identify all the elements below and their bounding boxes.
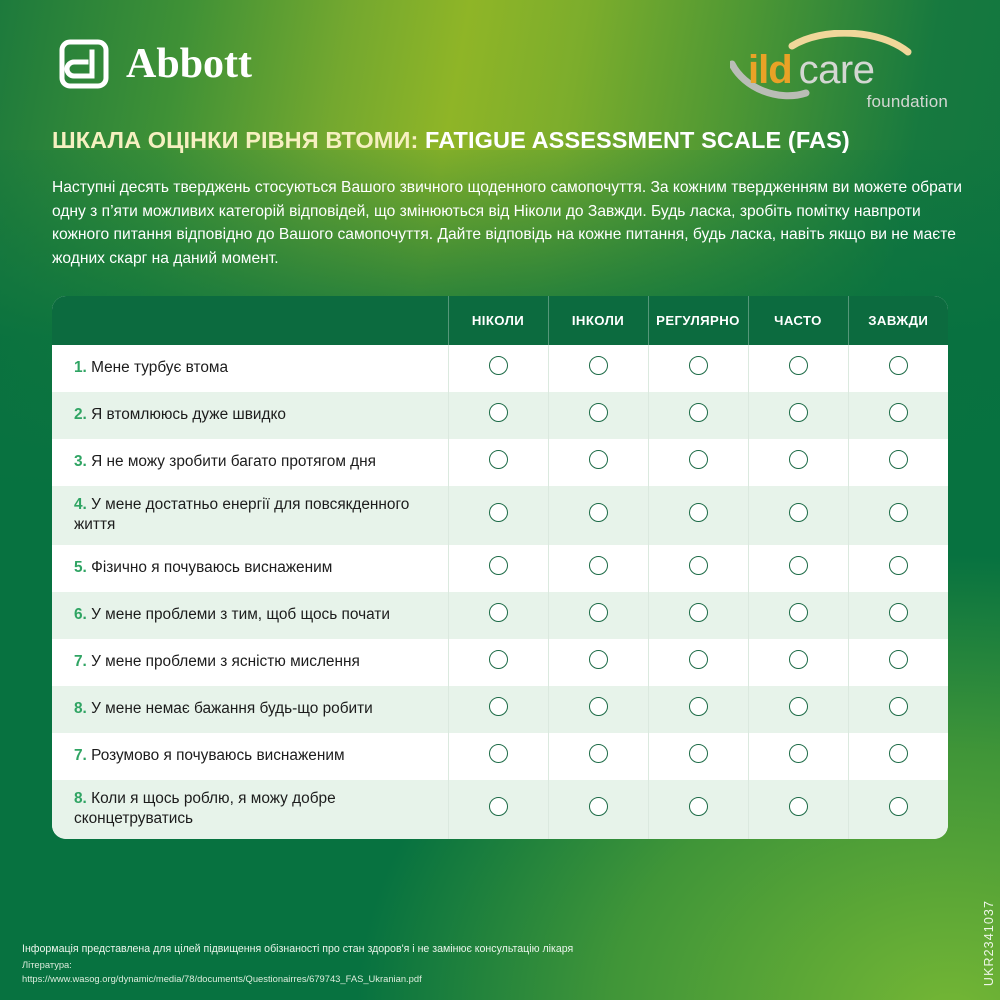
answer-cell[interactable] (448, 780, 548, 839)
answer-cell[interactable] (548, 345, 648, 392)
table-row: 5. Фізично я почуваюсь виснаженим (52, 545, 948, 592)
column-header-question (52, 296, 448, 345)
radio-button-q8-opt2[interactable] (589, 697, 608, 716)
answer-cell[interactable] (748, 345, 848, 392)
radio-button-q6-opt3[interactable] (689, 603, 708, 622)
answer-cell[interactable] (748, 392, 848, 439)
answer-cell[interactable] (848, 486, 948, 545)
column-header-regularly: РЕГУЛЯРНО (648, 296, 748, 345)
answer-cell[interactable] (448, 545, 548, 592)
question-number: 8. (74, 700, 87, 717)
answer-cell[interactable] (648, 733, 748, 780)
page-title: ШКАЛА ОЦІНКИ РІВНЯ ВТОМИ: FATIGUE ASSESS… (0, 118, 1000, 162)
question-text: У мене немає бажання будь-що робити (91, 700, 373, 717)
radio-button-q9-opt4[interactable] (789, 744, 808, 763)
radio-button-q8-opt3[interactable] (689, 697, 708, 716)
answer-cell[interactable] (548, 439, 648, 486)
answer-cell[interactable] (648, 686, 748, 733)
column-header-sometimes: ІНКОЛИ (548, 296, 648, 345)
answer-cell[interactable] (748, 545, 848, 592)
question-cell: 6. У мене проблеми з тим, щоб щось почат… (52, 592, 448, 639)
radio-button-q4-opt5[interactable] (889, 503, 908, 522)
answer-cell[interactable] (448, 345, 548, 392)
radio-button-q2-opt2[interactable] (589, 403, 608, 422)
answer-cell[interactable] (448, 639, 548, 686)
table-row: 1. Мене турбує втома (52, 345, 948, 392)
radio-button-q6-opt2[interactable] (589, 603, 608, 622)
radio-button-q10-opt2[interactable] (589, 797, 608, 816)
radio-button-q6-opt1[interactable] (489, 603, 508, 622)
question-number: 8. (74, 790, 87, 807)
answer-cell[interactable] (748, 439, 848, 486)
question-cell: 7. Розумово я почуваюсь виснаженим (52, 733, 448, 780)
ild-logo-subtitle: foundation (867, 92, 948, 112)
radio-button-q9-opt1[interactable] (489, 744, 508, 763)
radio-button-q10-opt5[interactable] (889, 797, 908, 816)
ild-logo-secondary-text: care (799, 50, 875, 90)
answer-cell[interactable] (648, 545, 748, 592)
radio-button-q3-opt5[interactable] (889, 450, 908, 469)
footer-reference-url[interactable]: https://www.wasog.org/dynamic/media/78/d… (22, 972, 722, 986)
radio-button-q7-opt3[interactable] (689, 650, 708, 669)
page-header: Abbott ild care foundation (0, 0, 1000, 118)
radio-button-q5-opt1[interactable] (489, 556, 508, 575)
question-text: Я втомлююсь дуже швидко (91, 406, 286, 423)
question-number: 6. (74, 606, 87, 623)
question-text: У мене достатньо енергії для повсякденно… (74, 496, 409, 533)
column-header-often: ЧАСТО (748, 296, 848, 345)
question-cell: 7. У мене проблеми з ясністю мислення (52, 639, 448, 686)
answer-cell[interactable] (848, 439, 948, 486)
fas-questionnaire-table: НІКОЛИ ІНКОЛИ РЕГУЛЯРНО ЧАСТО ЗАВЖДИ 1. … (52, 296, 948, 839)
table-row: 8. Коли я щось роблю, я можу добре сконц… (52, 780, 948, 839)
radio-button-q4-opt1[interactable] (489, 503, 508, 522)
answer-cell[interactable] (848, 592, 948, 639)
question-cell: 2. Я втомлююсь дуже швидко (52, 392, 448, 439)
answer-cell[interactable] (648, 639, 748, 686)
question-text: Фізично я почуваюсь виснаженим (91, 559, 332, 576)
table-row: 3. Я не можу зробити багато протягом дня (52, 439, 948, 486)
footer: Інформація представлена для цілей підвищ… (22, 942, 722, 986)
radio-button-q6-opt4[interactable] (789, 603, 808, 622)
radio-button-q2-opt1[interactable] (489, 403, 508, 422)
radio-button-q1-opt4[interactable] (789, 356, 808, 375)
radio-button-q4-opt4[interactable] (789, 503, 808, 522)
answer-cell[interactable] (448, 486, 548, 545)
radio-button-q7-opt4[interactable] (789, 650, 808, 669)
question-text: Мене турбує втома (91, 359, 228, 376)
question-number: 4. (74, 496, 87, 513)
answer-cell[interactable] (548, 592, 648, 639)
radio-button-q1-opt2[interactable] (589, 356, 608, 375)
answer-cell[interactable] (448, 592, 548, 639)
abbott-a-mark-icon (58, 38, 110, 90)
questionnaire-card: НІКОЛИ ІНКОЛИ РЕГУЛЯРНО ЧАСТО ЗАВЖДИ 1. … (52, 296, 948, 839)
radio-button-q10-opt4[interactable] (789, 797, 808, 816)
radio-button-q7-opt2[interactable] (589, 650, 608, 669)
answer-cell[interactable] (648, 592, 748, 639)
answer-cell[interactable] (548, 780, 648, 839)
radio-button-q5-opt4[interactable] (789, 556, 808, 575)
table-row: 7. Розумово я почуваюсь виснаженим (52, 733, 948, 780)
radio-button-q2-opt5[interactable] (889, 403, 908, 422)
question-number: 5. (74, 559, 87, 576)
question-cell: 1. Мене турбує втома (52, 345, 448, 392)
column-header-never: НІКОЛИ (448, 296, 548, 345)
radio-button-q8-opt1[interactable] (489, 697, 508, 716)
question-number: 2. (74, 406, 87, 423)
answer-cell[interactable] (548, 639, 648, 686)
question-cell: 5. Фізично я почуваюсь виснаженим (52, 545, 448, 592)
answer-cell[interactable] (448, 392, 548, 439)
radio-button-q6-opt5[interactable] (889, 603, 908, 622)
abbott-wordmark: Abbott (126, 43, 252, 85)
answer-cell[interactable] (848, 686, 948, 733)
table-row: 7. У мене проблеми з ясністю мислення (52, 639, 948, 686)
footer-disclaimer: Інформація представлена для цілей підвищ… (22, 942, 722, 958)
radio-button-q1-opt5[interactable] (889, 356, 908, 375)
answer-cell[interactable] (648, 392, 748, 439)
table-row: 4. У мене достатньо енергії для повсякде… (52, 486, 948, 545)
table-header: НІКОЛИ ІНКОЛИ РЕГУЛЯРНО ЧАСТО ЗАВЖДИ (52, 296, 948, 345)
question-cell: 8. У мене немає бажання будь-що робити (52, 686, 448, 733)
answer-cell[interactable] (548, 545, 648, 592)
document-code: UKR2341037 (982, 900, 996, 986)
answer-cell[interactable] (648, 345, 748, 392)
radio-button-q2-opt3[interactable] (689, 403, 708, 422)
radio-button-q8-opt4[interactable] (789, 697, 808, 716)
radio-button-q5-opt2[interactable] (589, 556, 608, 575)
answer-cell[interactable] (848, 780, 948, 839)
question-cell: 4. У мене достатньо енергії для повсякде… (52, 486, 448, 545)
answer-cell[interactable] (648, 486, 748, 545)
instructions-paragraph: Наступні десять тверджень стосуються Ваш… (52, 176, 970, 271)
answer-cell[interactable] (648, 780, 748, 839)
radio-button-q1-opt1[interactable] (489, 356, 508, 375)
radio-button-q1-opt3[interactable] (689, 356, 708, 375)
answer-cell[interactable] (848, 392, 948, 439)
radio-button-q7-opt1[interactable] (489, 650, 508, 669)
answer-cell[interactable] (448, 686, 548, 733)
radio-button-q9-opt3[interactable] (689, 744, 708, 763)
answer-cell[interactable] (848, 345, 948, 392)
question-cell: 3. Я не можу зробити багато протягом дня (52, 439, 448, 486)
abbott-logo: Abbott (58, 38, 252, 90)
radio-button-q5-opt5[interactable] (889, 556, 908, 575)
table-header-row: НІКОЛИ ІНКОЛИ РЕГУЛЯРНО ЧАСТО ЗАВЖДИ (52, 296, 948, 345)
answer-cell[interactable] (848, 733, 948, 780)
answer-cell[interactable] (748, 639, 848, 686)
answer-cell[interactable] (548, 686, 648, 733)
question-text: Я не можу зробити багато протягом дня (91, 453, 376, 470)
radio-button-q9-opt2[interactable] (589, 744, 608, 763)
radio-button-q10-opt1[interactable] (489, 797, 508, 816)
column-header-always: ЗАВЖДИ (848, 296, 948, 345)
radio-button-q2-opt4[interactable] (789, 403, 808, 422)
page-title-ukrainian: ШКАЛА ОЦІНКИ РІВНЯ ВТОМИ: (52, 127, 418, 153)
question-text: У мене проблеми з тим, щоб щось почати (91, 606, 390, 623)
answer-cell[interactable] (648, 439, 748, 486)
footer-references-label: Література: (22, 958, 722, 972)
answer-cell[interactable] (748, 592, 848, 639)
radio-button-q3-opt2[interactable] (589, 450, 608, 469)
ild-care-foundation-logo: ild care foundation (730, 30, 950, 108)
page-title-english: FATIGUE ASSESSMENT SCALE (FAS) (425, 127, 850, 153)
radio-button-q3-opt1[interactable] (489, 450, 508, 469)
question-number: 7. (74, 747, 87, 764)
answer-cell[interactable] (848, 639, 948, 686)
radio-button-q9-opt5[interactable] (889, 744, 908, 763)
answer-cell[interactable] (748, 686, 848, 733)
answer-cell[interactable] (748, 486, 848, 545)
question-cell: 8. Коли я щось роблю, я можу добре сконц… (52, 780, 448, 839)
answer-cell[interactable] (548, 486, 648, 545)
answer-cell[interactable] (748, 733, 848, 780)
radio-button-q10-opt3[interactable] (689, 797, 708, 816)
answer-cell[interactable] (548, 392, 648, 439)
answer-cell[interactable] (548, 733, 648, 780)
answer-cell[interactable] (448, 733, 548, 780)
ild-logo-primary-text: ild (748, 50, 792, 90)
table-row: 6. У мене проблеми з тим, щоб щось почат… (52, 592, 948, 639)
radio-button-q4-opt2[interactable] (589, 503, 608, 522)
table-row: 8. У мене немає бажання будь-що робити (52, 686, 948, 733)
radio-button-q8-opt5[interactable] (889, 697, 908, 716)
radio-button-q7-opt5[interactable] (889, 650, 908, 669)
question-number: 7. (74, 653, 87, 670)
fas-questionnaire-page: Abbott ild care foundation ШКАЛА ОЦІНКИ … (0, 0, 1000, 1000)
answer-cell[interactable] (848, 545, 948, 592)
table-body: 1. Мене турбує втома2. Я втомлююсь дуже … (52, 345, 948, 839)
radio-button-q5-opt3[interactable] (689, 556, 708, 575)
question-text: Розумово я почуваюсь виснаженим (91, 747, 344, 764)
radio-button-q3-opt4[interactable] (789, 450, 808, 469)
radio-button-q4-opt3[interactable] (689, 503, 708, 522)
question-text: Коли я щось роблю, я можу добре сконцетр… (74, 790, 336, 827)
question-text: У мене проблеми з ясністю мислення (91, 653, 360, 670)
answer-cell[interactable] (748, 780, 848, 839)
question-number: 1. (74, 359, 87, 376)
question-number: 3. (74, 453, 87, 470)
table-row: 2. Я втомлююсь дуже швидко (52, 392, 948, 439)
radio-button-q3-opt3[interactable] (689, 450, 708, 469)
answer-cell[interactable] (448, 439, 548, 486)
